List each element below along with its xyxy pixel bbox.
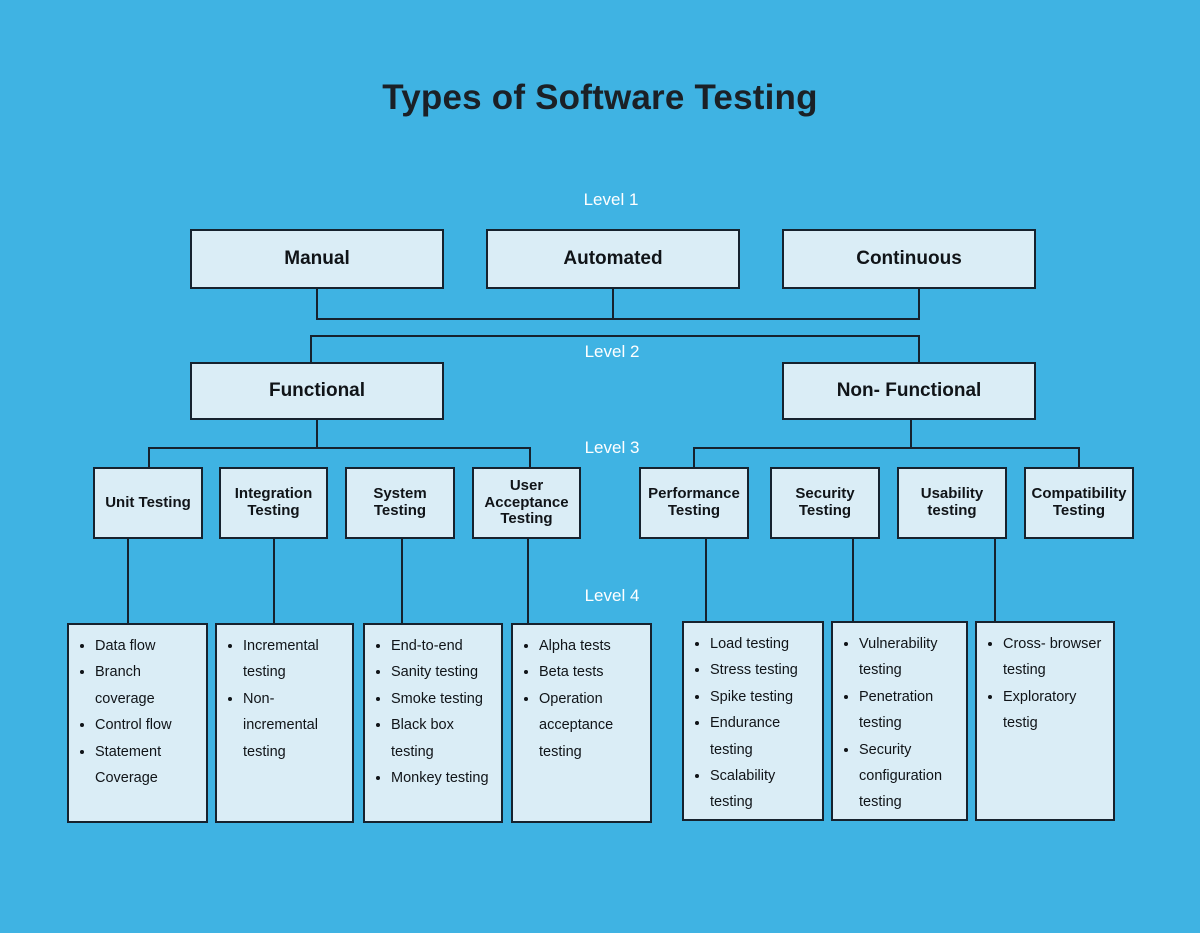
node-functional[interactable]: Functional [190, 362, 444, 420]
list-item: Penetration testing [859, 684, 962, 737]
node-system-testing-label: System Testing [351, 486, 449, 520]
connector-continuous-down [918, 289, 920, 320]
list-item: Beta tests [539, 659, 646, 685]
list-item: Statement Coverage [95, 739, 202, 792]
node-manual-label: Manual [284, 248, 349, 269]
list-item: Load testing [710, 631, 818, 657]
level-1-label: Level 1 [541, 190, 681, 210]
list-item: Operation acceptance testing [539, 686, 646, 765]
level-2-label: Level 2 [542, 342, 682, 362]
node-user-acceptance-testing-label: User Acceptance Testing [478, 478, 575, 528]
list-item: Exploratory testig [1003, 684, 1109, 737]
node-compatibility-testing-label: Compatibility Testing [1030, 486, 1128, 520]
list-item: Alpha tests [539, 633, 646, 659]
list-item: Data flow [95, 633, 202, 659]
leafbox-security-testing: Vulnerability testing Penetration testin… [831, 621, 968, 821]
node-security-testing[interactable]: Security Testing [770, 467, 880, 539]
node-usability-testing[interactable]: Usability testing [897, 467, 1007, 539]
connector-compatibility-to-leaf [994, 539, 996, 622]
connector-unit-to-leaf [127, 539, 129, 624]
leaf-list-integration-testing: Incremental testing Non-incremental test… [221, 633, 348, 765]
node-continuous-label: Continuous [856, 248, 962, 269]
connector-bus-level1 [316, 318, 920, 320]
diagram-canvas: Types of Software Testing Level 1 Manual… [0, 0, 1200, 933]
list-item: Scalability testing [710, 763, 818, 816]
connector-nonfunctional-down [918, 335, 920, 362]
connector-automated-down [612, 289, 614, 320]
list-item: Cross- browser testing [1003, 631, 1109, 684]
leafbox-user-acceptance-testing: Alpha tests Beta tests Operation accepta… [511, 623, 652, 823]
connector-system-to-leaf [401, 539, 403, 624]
node-system-testing[interactable]: System Testing [345, 467, 455, 539]
level-4-label: Level 4 [542, 586, 682, 606]
connector-integration-to-leaf [273, 539, 275, 624]
node-manual[interactable]: Manual [190, 229, 444, 289]
list-item: Control flow [95, 712, 202, 738]
leaf-list-security-testing: Vulnerability testing Penetration testin… [837, 631, 962, 816]
list-item: Security configuration testing [859, 737, 962, 816]
node-automated-label: Automated [563, 248, 662, 269]
connector-functional-stem [316, 420, 318, 448]
node-automated[interactable]: Automated [486, 229, 740, 289]
leaf-list-unit-testing: Data flow Branch coverage Control flow S… [73, 633, 202, 791]
leaf-list-user-acceptance-testing: Alpha tests Beta tests Operation accepta… [517, 633, 646, 765]
node-usability-testing-label: Usability testing [903, 486, 1001, 520]
node-integration-testing-label: Integration Testing [225, 486, 322, 520]
connector-uat-down [529, 447, 531, 467]
connector-performance-down [693, 447, 695, 467]
list-item: Branch coverage [95, 659, 202, 712]
connector-bus-level2 [310, 335, 918, 337]
leafbox-system-testing: End-to-end Sanity testing Smoke testing … [363, 623, 503, 823]
node-security-testing-label: Security Testing [776, 486, 874, 520]
connector-manual-down [316, 289, 318, 320]
list-item: Vulnerability testing [859, 631, 962, 684]
connector-unit-testing-down [148, 447, 150, 467]
connector-security-to-leaf [852, 539, 854, 622]
node-unit-testing[interactable]: Unit Testing [93, 467, 203, 539]
connector-uat-to-leaf [527, 539, 529, 624]
list-item: Endurance testing [710, 710, 818, 763]
leaf-list-system-testing: End-to-end Sanity testing Smoke testing … [369, 633, 497, 791]
list-item: Stress testing [710, 657, 818, 683]
leaf-list-compatibility-testing: Cross- browser testing Exploratory testi… [981, 631, 1109, 737]
leafbox-performance-testing: Load testing Stress testing Spike testin… [682, 621, 824, 821]
page-title: Types of Software Testing [0, 78, 1200, 118]
node-functional-label: Functional [269, 380, 365, 401]
list-item: Black box testing [391, 712, 497, 765]
list-item: Smoke testing [391, 686, 497, 712]
node-user-acceptance-testing[interactable]: User Acceptance Testing [472, 467, 581, 539]
node-compatibility-testing[interactable]: Compatibility Testing [1024, 467, 1134, 539]
list-item: Non-incremental testing [243, 686, 348, 765]
node-performance-testing-label: Performance Testing [645, 486, 743, 520]
level-3-label: Level 3 [542, 438, 682, 458]
list-item: Incremental testing [243, 633, 348, 686]
node-non-functional-label: Non- Functional [837, 380, 982, 401]
connector-functional-down [310, 335, 312, 362]
leafbox-unit-testing: Data flow Branch coverage Control flow S… [67, 623, 208, 823]
connector-nonfunctional-stem [910, 420, 912, 448]
connector-compatibility-down [1078, 447, 1080, 467]
node-unit-testing-label: Unit Testing [105, 495, 191, 512]
connector-bus-nonfunctional-children [693, 447, 1079, 449]
leafbox-integration-testing: Incremental testing Non-incremental test… [215, 623, 354, 823]
leaf-list-performance-testing: Load testing Stress testing Spike testin… [688, 631, 818, 816]
list-item: Spike testing [710, 684, 818, 710]
list-item: End-to-end [391, 633, 497, 659]
leafbox-compatibility-testing: Cross- browser testing Exploratory testi… [975, 621, 1115, 821]
connector-performance-to-leaf [705, 539, 707, 622]
list-item: Sanity testing [391, 659, 497, 685]
node-continuous[interactable]: Continuous [782, 229, 1036, 289]
connector-bus-functional-children [148, 447, 531, 449]
node-integration-testing[interactable]: Integration Testing [219, 467, 328, 539]
node-non-functional[interactable]: Non- Functional [782, 362, 1036, 420]
node-performance-testing[interactable]: Performance Testing [639, 467, 749, 539]
list-item: Monkey testing [391, 765, 497, 791]
